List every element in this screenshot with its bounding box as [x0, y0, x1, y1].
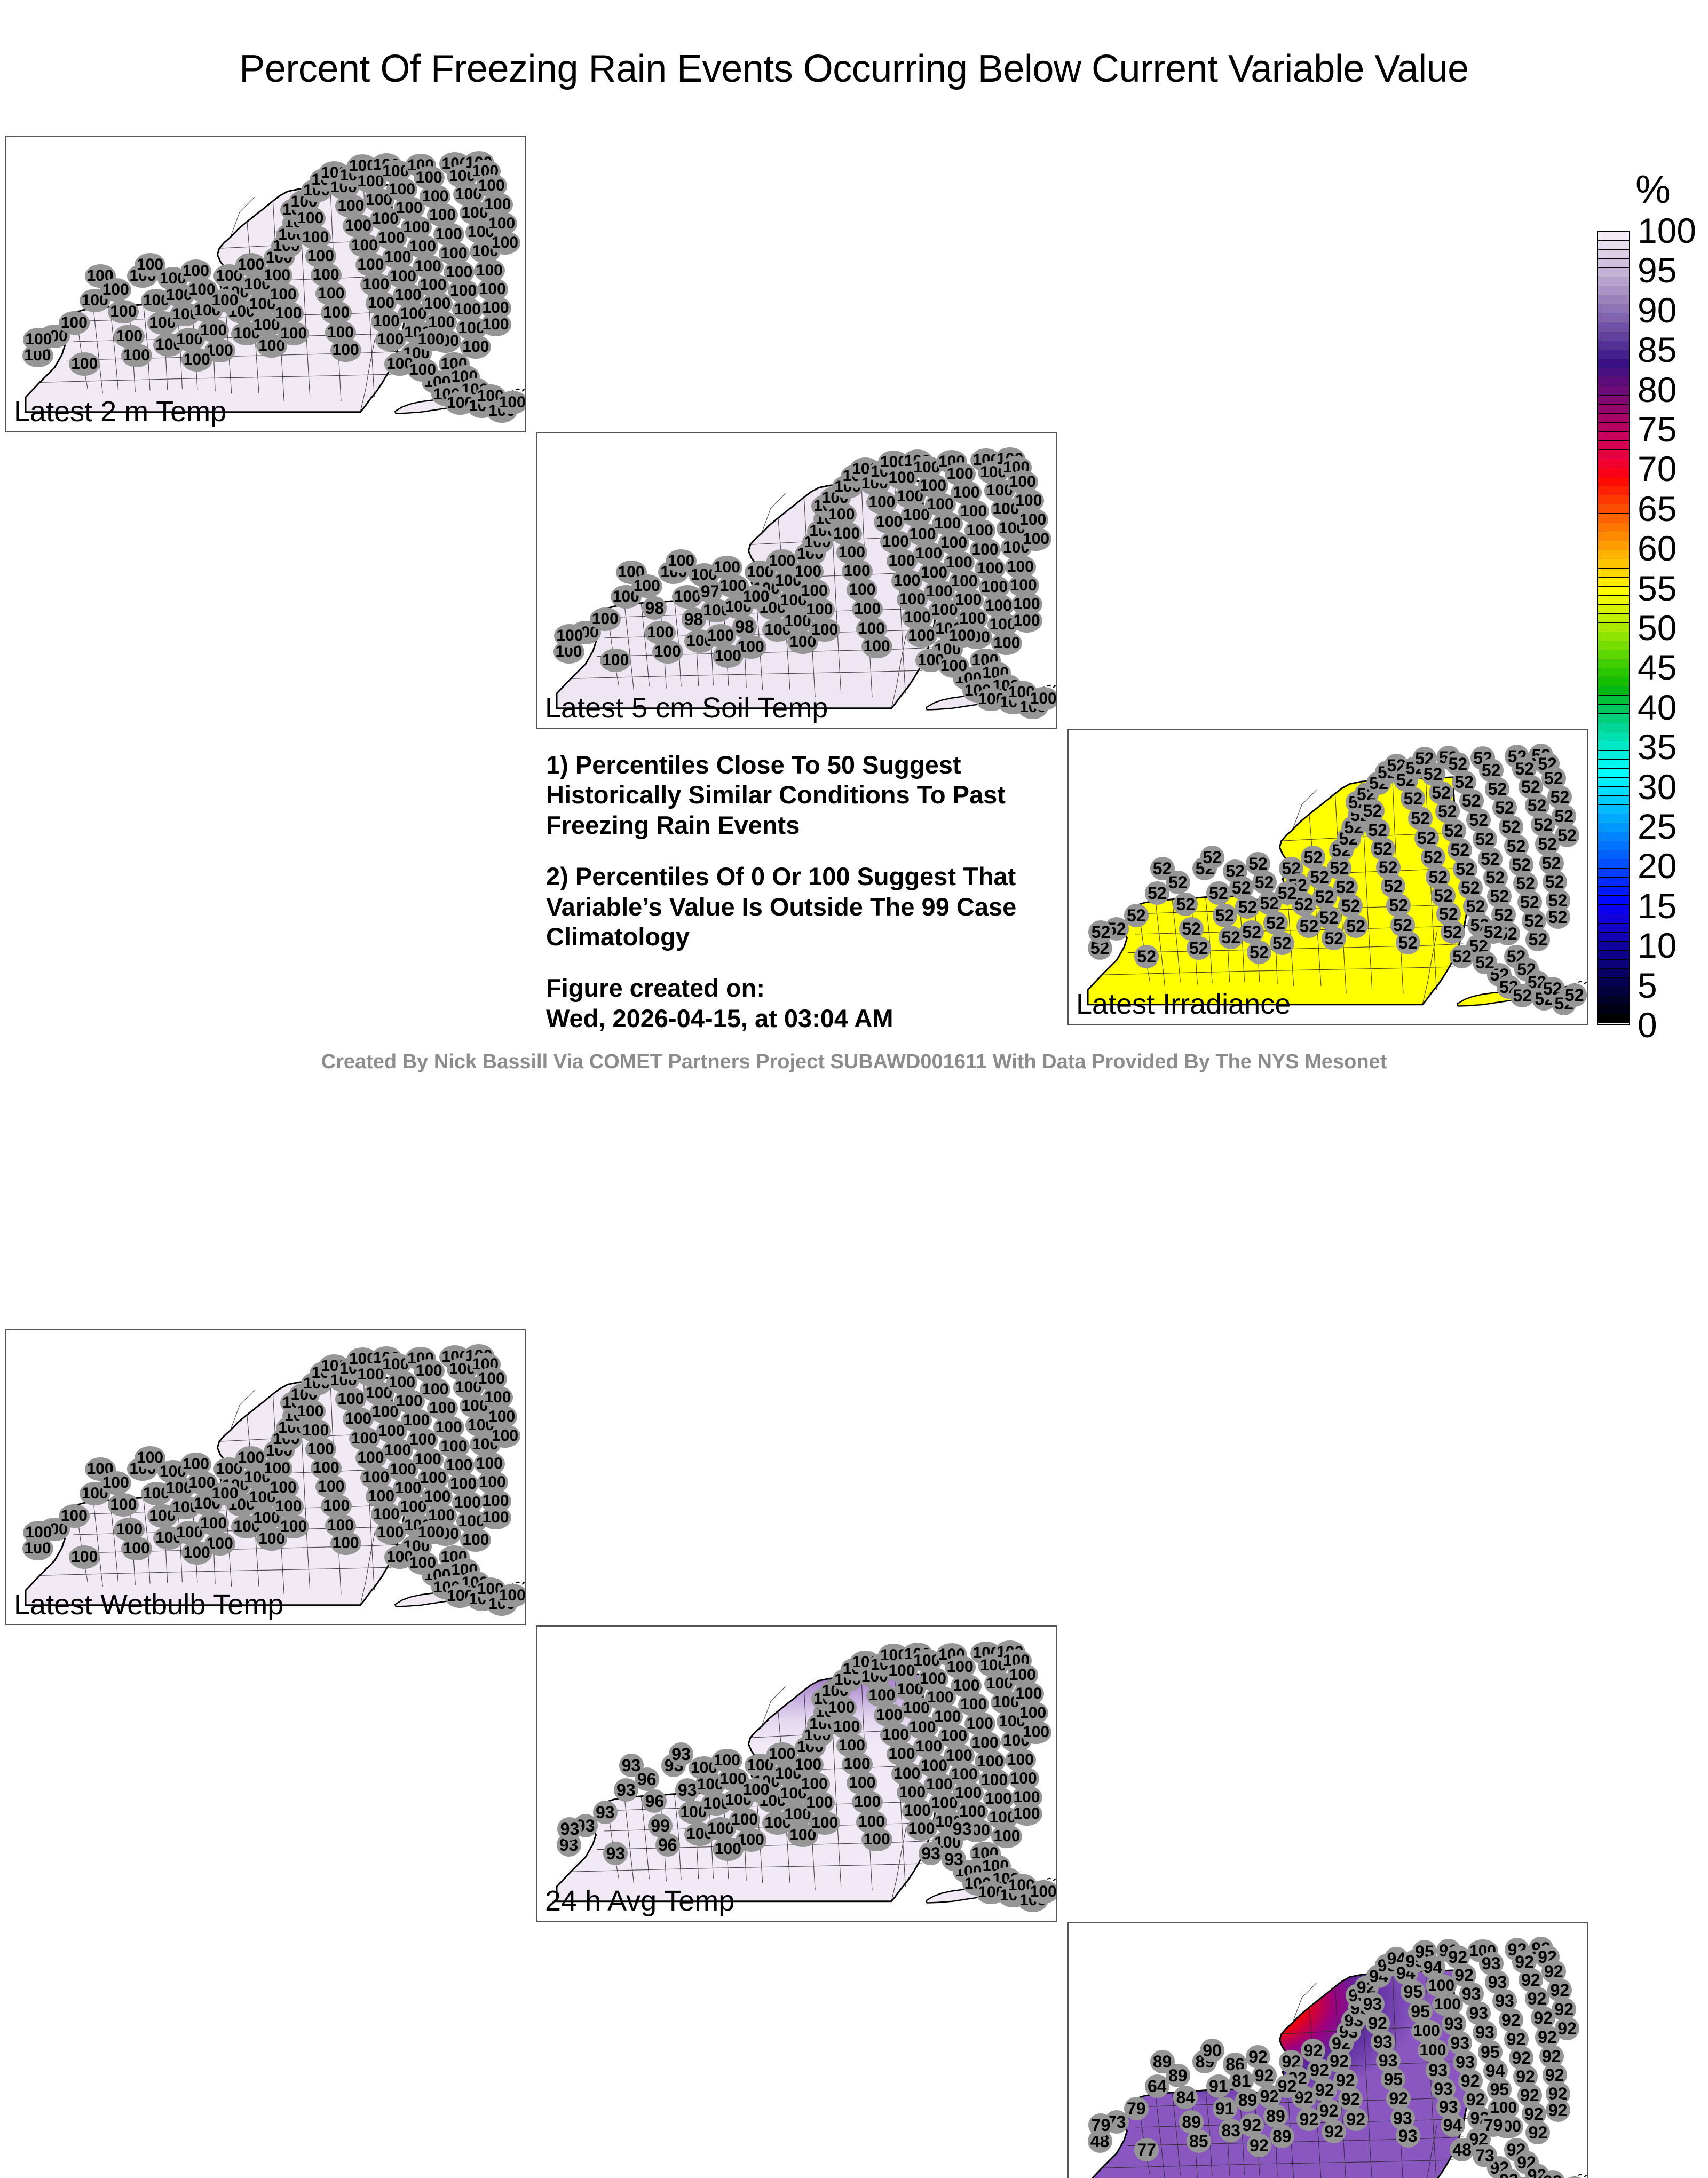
station-value-marker: 94 [1441, 2113, 1465, 2137]
colorbar-segment [1598, 714, 1629, 723]
colorbar-segment [1598, 650, 1629, 659]
station-value-marker: 100 [273, 1495, 304, 1518]
colorbar-segment [1598, 368, 1629, 377]
colorbar-segment [1598, 341, 1629, 350]
station-value-marker: 100 [181, 1541, 212, 1565]
station-value-marker: 100 [407, 1551, 438, 1575]
colorbar-segment [1598, 596, 1629, 605]
station-value-marker: 100 [729, 1808, 760, 1832]
colorbar-segment [1598, 805, 1629, 814]
station-value-marker: 52 [1213, 904, 1237, 927]
colorbar-segment [1598, 259, 1629, 268]
colorbar-segment [1598, 814, 1629, 823]
colorbar-segment [1598, 614, 1629, 623]
station-value-marker: 85 [1187, 2129, 1211, 2153]
colorbar-unit-label: % [1635, 167, 1671, 212]
station-value-marker: 100 [804, 1791, 835, 1814]
station-value-marker: 100 [809, 1811, 840, 1835]
map-panel-24h-avg-irradiance[interactable]: 4873797977648989848985899091918386818992… [1067, 1922, 1588, 2178]
station-value-marker: 100 [59, 311, 90, 335]
station-value-marker: 96 [635, 1767, 659, 1791]
colorbar-segment [1598, 304, 1629, 313]
station-value-marker: 93 [942, 1848, 966, 1871]
colorbar-segment [1598, 623, 1629, 632]
colorbar-segment [1598, 350, 1629, 359]
colorbar-segment [1598, 869, 1629, 878]
station-value-marker: 48 [1450, 2138, 1474, 2161]
station-value-marker: 89 [1235, 2088, 1260, 2112]
station-value-marker: 100 [1021, 1721, 1051, 1744]
panel-label-24h-avg-temp: 24 h Avg Temp [545, 1884, 734, 1917]
station-value-marker: 52 [1200, 846, 1224, 869]
station-value-marker: 100 [198, 1512, 229, 1535]
colorbar-segment [1598, 477, 1629, 486]
panel-label-latest-wetbulb-temp: Latest Wetbulb Temp [14, 1588, 283, 1621]
station-value-marker: 100 [489, 231, 520, 255]
colorbar-segment [1598, 951, 1629, 960]
colorbar-segment [1598, 924, 1629, 933]
colorbar-tick-label: 15 [1638, 886, 1677, 926]
page-title: Percent Of Freezing Rain Events Occurrin… [0, 47, 1708, 91]
colorbar-segment [1598, 960, 1629, 969]
colorbar-segment [1598, 942, 1629, 951]
station-value-marker: 52 [1247, 941, 1271, 964]
station-value-marker: 100 [497, 391, 526, 414]
station-value-marker: 100 [741, 1778, 772, 1802]
colorbar-segment [1598, 859, 1629, 869]
colorbar-segment [1598, 969, 1629, 978]
colorbar-tick-label: 75 [1638, 409, 1677, 449]
station-value-marker: 89 [1263, 2104, 1288, 2128]
station-value-marker: 100 [741, 585, 772, 609]
colorbar-segment [1598, 232, 1629, 241]
station-value-marker: 100 [210, 289, 241, 312]
station-value-marker: 52 [1088, 920, 1113, 944]
station-value-marker: 52 [1562, 983, 1587, 1007]
station-value-marker: 100 [991, 1825, 1022, 1848]
station-value-marker: 100 [480, 313, 511, 336]
station-value-marker: 100 [713, 1837, 744, 1861]
station-value-marker: 52 [1555, 824, 1579, 847]
station-value-marker: 100 [705, 624, 736, 648]
colorbar-segment [1598, 514, 1629, 523]
station-value-marker: 100 [407, 358, 438, 382]
station-value-marker: 100 [1011, 1802, 1042, 1826]
station-value-marker: 93 [603, 1842, 628, 1865]
colorbar-segment [1598, 423, 1629, 432]
station-value-marker: 92 [1525, 2121, 1550, 2144]
colorbar-segment [1598, 523, 1629, 532]
colorbar-segment [1598, 441, 1629, 450]
colorbar-tick-label: 10 [1638, 925, 1677, 966]
panel-label-latest-irradiance: Latest Irradiance [1076, 988, 1291, 1021]
station-value-marker: 52 [1275, 881, 1300, 905]
colorbar-segment [1598, 322, 1629, 332]
station-value-marker: 100 [23, 1521, 54, 1544]
note-2: 2) Percentiles Of 0 Or 100 Suggest That … [546, 862, 1056, 952]
colorbar-tick-label: 35 [1638, 727, 1677, 767]
colorbar-segment [1598, 405, 1629, 414]
station-value-marker: 100 [121, 344, 152, 367]
colorbar-segment [1598, 414, 1629, 423]
station-value-marker: 100 [198, 319, 229, 342]
colorbar [1597, 231, 1630, 1025]
colorbar-segment [1598, 286, 1629, 295]
colorbar-segment [1598, 632, 1629, 641]
station-value-marker: 52 [1187, 936, 1211, 960]
colorbar-segment [1598, 878, 1629, 887]
colorbar-tick-label: 50 [1638, 607, 1677, 648]
colorbar-segment [1598, 377, 1629, 386]
station-value-marker: 100 [375, 328, 406, 351]
colorbar-segment [1598, 686, 1629, 696]
station-value-marker: 52 [1546, 905, 1570, 929]
station-value-marker: 100 [713, 644, 744, 668]
station-value-marker: 100 [278, 322, 309, 345]
colorbar-segment [1598, 532, 1629, 541]
station-value-marker: 93 [1396, 2124, 1420, 2148]
map-grid: 1001001001001001001001001001001001001001… [5, 136, 1588, 1041]
station-value-marker: 100 [906, 624, 937, 648]
colorbar-segment [1598, 450, 1629, 459]
station-value-marker: 52 [1263, 911, 1288, 935]
station-value-marker: 89 [1270, 2125, 1294, 2148]
station-value-marker: 100 [938, 654, 969, 678]
colorbar-tick-label: 95 [1638, 250, 1677, 290]
station-value-marker: 100 [861, 1828, 892, 1851]
colorbar-segment [1598, 268, 1629, 277]
station-value-marker: 52 [1450, 945, 1474, 968]
station-value-marker: 100 [108, 300, 139, 323]
station-value-marker: 100 [181, 348, 212, 372]
colorbar-segment [1598, 569, 1629, 578]
station-value-marker: 52 [1441, 920, 1465, 944]
station-value-marker: 100 [59, 1504, 90, 1528]
station-value-marker: 96 [655, 1833, 680, 1857]
colorbar-segment [1598, 605, 1629, 614]
colorbar-tick-label: 0 [1638, 1005, 1657, 1045]
colorbar-segment [1598, 641, 1629, 650]
station-value-marker: 93 [593, 1801, 618, 1824]
station-value-marker: 77 [1134, 2138, 1159, 2161]
station-value-marker: 100 [100, 1471, 131, 1495]
station-value-marker: 92 [1546, 2098, 1570, 2122]
colorbar-segment [1598, 250, 1629, 259]
map-panel-latest-wetbulb-temp[interactable]: 1001001001001001001001001001001001001001… [5, 1329, 526, 1625]
colorbar-segment [1598, 313, 1629, 322]
station-value-marker: 73 [1473, 2144, 1497, 2167]
station-value-marker: 100 [23, 328, 54, 351]
station-value-marker: 52 [1525, 928, 1550, 951]
station-value-marker: 79 [1088, 2113, 1113, 2137]
colorbar-segment [1598, 1014, 1629, 1023]
colorbar-tick-label: 70 [1638, 448, 1677, 489]
station-value-marker: 100 [804, 598, 835, 621]
colorbar-segment [1598, 887, 1629, 896]
station-value-marker: 91 [1213, 2097, 1237, 2120]
map-panel-latest-2m-temp[interactable]: 1001001001001001001001001001001001001001… [5, 136, 526, 432]
colorbar-segment [1598, 659, 1629, 668]
station-value-marker: 89 [1166, 2064, 1190, 2087]
credit-line: Created By Nick Bassill Via COMET Partne… [0, 1051, 1708, 1074]
station-value-marker: 52 [1134, 945, 1159, 968]
station-value-marker: 100 [278, 1515, 309, 1538]
station-value-marker: 79 [1124, 2097, 1149, 2120]
colorbar-segment [1598, 987, 1629, 996]
colorbar-segment [1598, 787, 1629, 796]
station-value-marker: 84 [1173, 2086, 1198, 2109]
station-value-marker: 52 [1124, 904, 1149, 927]
station-value-marker: 100 [416, 328, 447, 351]
station-value-marker: 100 [375, 1521, 406, 1544]
station-value-marker: 92 [1322, 2120, 1346, 2143]
station-value-marker: 52 [1317, 906, 1341, 929]
colorbar-segment [1598, 769, 1629, 778]
station-value-marker: 100 [330, 1532, 361, 1555]
station-value-marker: 92 [1275, 2074, 1300, 2098]
colorbar-segment [1598, 495, 1629, 504]
panel-label-latest-2m-temp: Latest 2 m Temp [14, 395, 226, 428]
station-value-marker: 100 [416, 1521, 447, 1544]
station-value-marker: 98 [642, 596, 667, 620]
station-value-marker: 93 [950, 1817, 975, 1841]
station-value-marker: 100 [330, 338, 361, 362]
notes-block: 1) Percentiles Close To 50 Suggest Histo… [546, 750, 1056, 1033]
colorbar-segment [1598, 914, 1629, 924]
station-value-marker: 100 [489, 1424, 520, 1448]
station-value-marker: 100 [69, 1545, 100, 1569]
colorbar-segment [1598, 277, 1629, 286]
station-value-marker: 52 [1270, 932, 1294, 955]
colorbar-tick-label: 100 [1638, 210, 1696, 251]
station-value-marker: 100 [947, 624, 978, 648]
station-value-marker: 52 [1235, 895, 1260, 919]
station-value-marker: 100 [100, 278, 131, 302]
map-panel-latest-irradiance[interactable]: 5252525252525252525252525252525252525252… [1067, 729, 1588, 1025]
station-value-marker: 100 [1011, 609, 1042, 633]
colorbar-segment [1598, 578, 1629, 587]
station-value-marker: 96 [642, 1789, 667, 1813]
station-value-marker: 100 [809, 618, 840, 642]
colorbar-segment [1598, 705, 1629, 714]
colorbar-segment [1598, 905, 1629, 914]
colorbar-segment [1598, 933, 1629, 942]
colorbar-tick-label: 5 [1638, 965, 1657, 1006]
colorbar-segment [1598, 796, 1629, 805]
colorbar-segment [1598, 459, 1629, 468]
colorbar-tick-label: 45 [1638, 647, 1677, 688]
station-value-marker: 100 [1021, 527, 1051, 551]
station-value-marker: 52 [1473, 951, 1497, 974]
colorbar-segment [1598, 432, 1629, 441]
station-value-marker: 100 [1028, 687, 1057, 711]
colorbar-segment [1598, 760, 1629, 769]
colorbar-segment [1598, 1005, 1629, 1014]
colorbar-segment [1598, 386, 1629, 396]
colorbar-tick-label: 60 [1638, 528, 1677, 569]
colorbar-segment [1598, 723, 1629, 732]
colorbar-segment [1598, 241, 1629, 250]
station-value-marker: 52 [1343, 914, 1368, 938]
colorbar-segment [1598, 751, 1629, 760]
station-value-marker: 91 [1206, 2074, 1231, 2098]
colorbar-tick-label: 65 [1638, 488, 1677, 529]
map-panel-latest-5cm-soil-temp[interactable]: 1001001001001001001001009810010010010010… [536, 432, 1057, 729]
colorbar-segment [1598, 732, 1629, 741]
created-on-label: Figure created on: [546, 973, 1056, 1003]
station-value-marker: 92 [1247, 2134, 1271, 2157]
colorbar-segment [1598, 396, 1629, 405]
colorbar-segment [1598, 668, 1629, 677]
colorbar-segment [1598, 504, 1629, 514]
station-value-marker: 52 [1173, 893, 1198, 916]
colorbar-segment [1598, 332, 1629, 341]
colorbar-tick-label: 80 [1638, 369, 1677, 410]
colorbar-tick-label: 20 [1638, 846, 1677, 886]
station-value-marker: 100 [554, 624, 585, 648]
station-value-marker: 92 [1343, 2108, 1368, 2131]
station-value-marker: 92 [1555, 2017, 1579, 2040]
colorbar-tick-label: 40 [1638, 687, 1677, 728]
colorbar-segment [1598, 741, 1629, 751]
colorbar-tick-label: 85 [1638, 329, 1677, 370]
station-value-marker: 100 [460, 1528, 491, 1552]
colorbar-tick-label: 90 [1638, 290, 1677, 330]
station-value-marker: 52 [1322, 927, 1346, 950]
station-value-marker: 52 [1252, 871, 1277, 894]
station-value-marker: 52 [1481, 920, 1506, 944]
colorbar-segment [1598, 696, 1629, 705]
colorbar-segment [1598, 468, 1629, 477]
station-value-marker: 93 [919, 1842, 943, 1865]
colorbar-tick-label: 30 [1638, 767, 1677, 807]
station-value-marker: 100 [210, 1482, 241, 1505]
colorbar-tick-label: 25 [1638, 806, 1677, 847]
station-value-marker: 100 [600, 649, 631, 672]
colorbar-segment [1598, 823, 1629, 832]
colorbar-segment [1598, 978, 1629, 987]
station-value-marker: 92 [1338, 2087, 1363, 2111]
colorbar-segment [1598, 850, 1629, 859]
station-value-marker: 100 [906, 1817, 937, 1841]
colorbar-segment [1598, 559, 1629, 569]
station-value-marker: 100 [861, 635, 892, 658]
station-value-marker: 100 [590, 607, 621, 631]
colorbar-tick-label: 55 [1638, 568, 1677, 609]
note-1: 1) Percentiles Close To 50 Suggest Histo… [546, 750, 1056, 840]
map-panel-24h-avg-temp[interactable]: 9393939393939396969996939393100100100100… [536, 1625, 1057, 1922]
colorbar-segment [1598, 550, 1629, 559]
station-value-marker: 100 [631, 574, 662, 598]
colorbar-segment [1598, 778, 1629, 787]
colorbar-segment [1598, 587, 1629, 596]
station-value-marker: 100 [273, 302, 304, 325]
station-value-marker: 52 [1338, 894, 1363, 918]
station-value-marker: 93 [557, 1817, 582, 1841]
station-value-marker: 90 [1200, 2039, 1224, 2062]
colorbar-segment [1598, 677, 1629, 686]
colorbar-segment [1598, 832, 1629, 841]
station-value-marker: 52 [1396, 931, 1420, 954]
station-value-marker: 79 [1481, 2113, 1506, 2137]
station-value-marker: 100 [1028, 1880, 1057, 1904]
colorbar-segment [1598, 541, 1629, 550]
station-value-marker: 100 [652, 640, 683, 664]
colorbar-segment [1598, 359, 1629, 368]
created-on-value: Wed, 2026-04-15, at 03:04 AM [546, 1004, 1056, 1033]
colorbar-segment [1598, 486, 1629, 495]
station-value-marker: 100 [69, 352, 100, 376]
station-value-marker: 100 [121, 1537, 152, 1560]
colorbar-segment [1598, 996, 1629, 1005]
station-value-marker: 52 [1510, 984, 1535, 1007]
station-value-marker: 52 [1206, 881, 1231, 905]
panel-label-latest-5cm-soil-temp: Latest 5 cm Soil Temp [545, 691, 828, 724]
station-value-marker: 92 [1252, 2064, 1277, 2087]
station-value-marker: 52 [1166, 871, 1190, 894]
station-value-marker: 100 [108, 1493, 139, 1517]
colorbar-segment [1598, 841, 1629, 850]
station-value-marker: 100 [497, 1584, 526, 1607]
colorbar-segment [1598, 295, 1629, 304]
station-value-marker: 100 [480, 1506, 511, 1529]
station-value-marker: 92 [1317, 2099, 1341, 2122]
colorbar-segment [1598, 896, 1629, 905]
